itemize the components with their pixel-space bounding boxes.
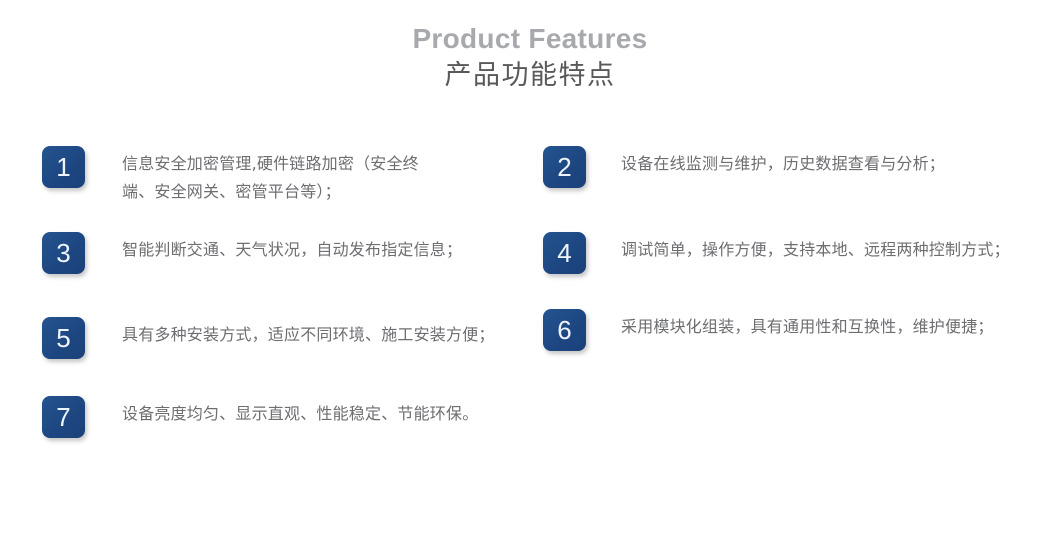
feature-text-2: 设备在线监测与维护，历史数据查看与分析； — [621, 150, 1013, 178]
feature-text-1: 信息安全加密管理,硬件链路加密（安全终端、安全网关、密管平台等）； — [122, 150, 422, 206]
feature-list: 1 信息安全加密管理,硬件链路加密（安全终端、安全网关、密管平台等）； 2 设备… — [0, 132, 1060, 462]
feature-item-1: 1 信息安全加密管理,硬件链路加密（安全终端、安全网关、密管平台等）； — [42, 146, 502, 206]
feature-text-4: 调试简单，操作方便，支持本地、远程两种控制方式； — [621, 236, 1013, 264]
page-title-english: Product Features — [0, 22, 1060, 56]
feature-text-5: 具有多种安装方式，适应不同环境、施工安装方便； — [122, 321, 502, 349]
feature-text-3: 智能判断交通、天气状况，自动发布指定信息； — [122, 236, 502, 264]
feature-text-6: 采用模块化组装，具有通用性和互换性，维护便捷； — [621, 313, 1013, 341]
feature-item-5: 5 具有多种安装方式，适应不同环境、施工安装方便； — [42, 317, 502, 359]
feature-item-6: 6 采用模块化组装，具有通用性和互换性，维护便捷； — [543, 309, 1013, 351]
feature-text-7: 设备亮度均匀、显示直观、性能稳定、节能环保。 — [122, 400, 502, 428]
page-title-chinese: 产品功能特点 — [0, 58, 1060, 94]
feature-number-badge-3: 3 — [42, 232, 85, 274]
page-title: Product Features 产品功能特点 — [0, 22, 1060, 94]
feature-number-badge-1: 1 — [42, 146, 85, 188]
feature-number-badge-7: 7 — [42, 396, 85, 438]
slide-product-features: Product Features 产品功能特点 1 信息安全加密管理,硬件链路加… — [0, 0, 1060, 534]
feature-number-badge-2: 2 — [543, 146, 586, 188]
feature-item-3: 3 智能判断交通、天气状况，自动发布指定信息； — [42, 232, 502, 274]
feature-number-badge-5: 5 — [42, 317, 85, 359]
feature-item-7: 7 设备亮度均匀、显示直观、性能稳定、节能环保。 — [42, 396, 502, 438]
feature-number-badge-6: 6 — [543, 309, 586, 351]
feature-number-badge-4: 4 — [543, 232, 586, 274]
feature-item-2: 2 设备在线监测与维护，历史数据查看与分析； — [543, 146, 1013, 188]
feature-item-4: 4 调试简单，操作方便，支持本地、远程两种控制方式； — [543, 232, 1013, 274]
